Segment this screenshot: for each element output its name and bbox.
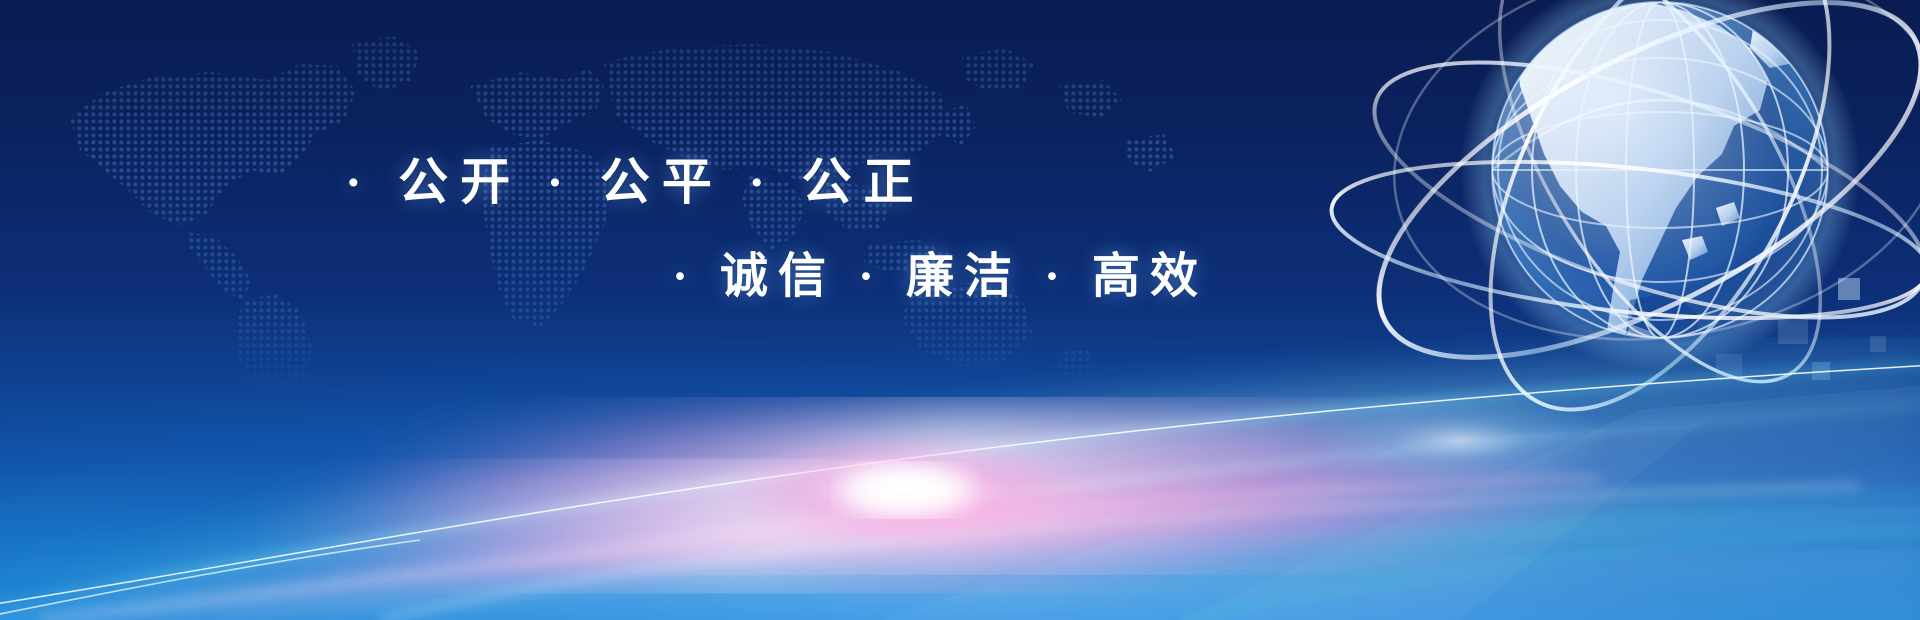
- slogan-line-1: · 公开 · 公平 · 公正: [345, 142, 926, 214]
- bottom-light-wave-streaks: [0, 290, 1920, 620]
- banner-root: · 公开 · 公平 · 公正 · 诚信 · 廉洁 · 高效: [0, 0, 1920, 620]
- slogan-line-2: · 诚信 · 廉洁 · 高效: [672, 236, 1208, 306]
